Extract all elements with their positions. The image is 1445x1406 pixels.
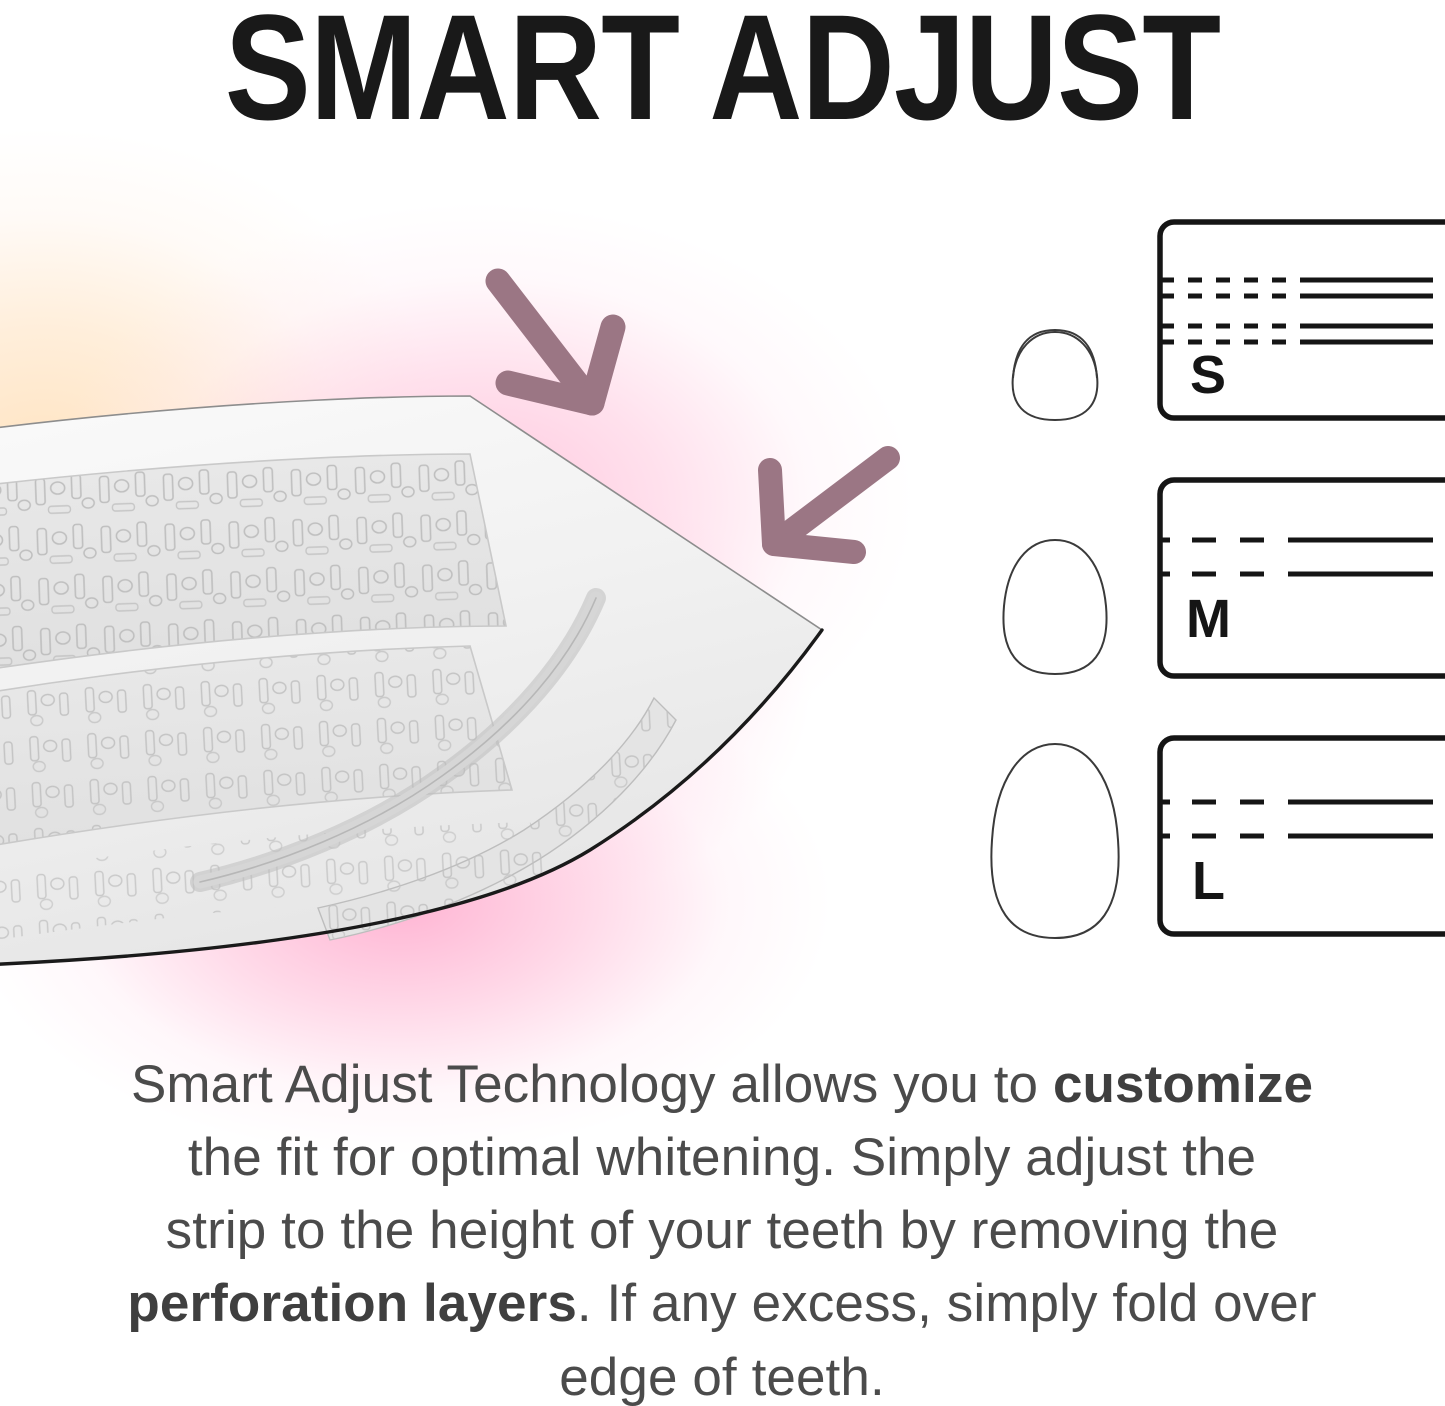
tooth-outline-small xyxy=(960,208,1150,438)
infographic-page: SMART ADJUST xyxy=(0,0,1445,1406)
size-label-s: S xyxy=(1190,348,1226,402)
size-label-l: L xyxy=(1192,854,1225,908)
size-row-m: M xyxy=(960,466,1445,696)
tooth-outline-large xyxy=(960,724,1150,954)
size-card-m: M xyxy=(1148,466,1445,696)
size-card-l: L xyxy=(1148,724,1445,954)
body-line-4-bold: perforation layers xyxy=(127,1274,577,1333)
body-line-1-bold: customize xyxy=(1053,1055,1313,1114)
body-line-4-plain: . If any excess, simply fold over xyxy=(577,1274,1317,1333)
arrow-down-right-icon xyxy=(470,255,650,440)
body-line-5: edge of teeth. xyxy=(559,1348,885,1406)
size-row-s: S xyxy=(960,208,1445,438)
size-label-m: M xyxy=(1186,592,1231,646)
body-line-3: strip to the height of your teeth by rem… xyxy=(166,1201,1279,1260)
body-line-1-plain: Smart Adjust Technology allows you to xyxy=(131,1055,1053,1114)
size-row-l: L xyxy=(960,724,1445,954)
arrow-down-left-icon xyxy=(742,440,902,585)
body-description: Smart Adjust Technology allows you to cu… xyxy=(72,1048,1372,1406)
body-line-2: the fit for optimal whitening. Simply ad… xyxy=(188,1128,1256,1187)
size-card-s: S xyxy=(1148,208,1445,438)
page-title: SMART ADJUST xyxy=(101,0,1344,142)
tooth-outline-medium xyxy=(960,466,1150,696)
whitening-strip-graphic xyxy=(0,330,890,970)
size-chart: S M xyxy=(960,200,1445,980)
